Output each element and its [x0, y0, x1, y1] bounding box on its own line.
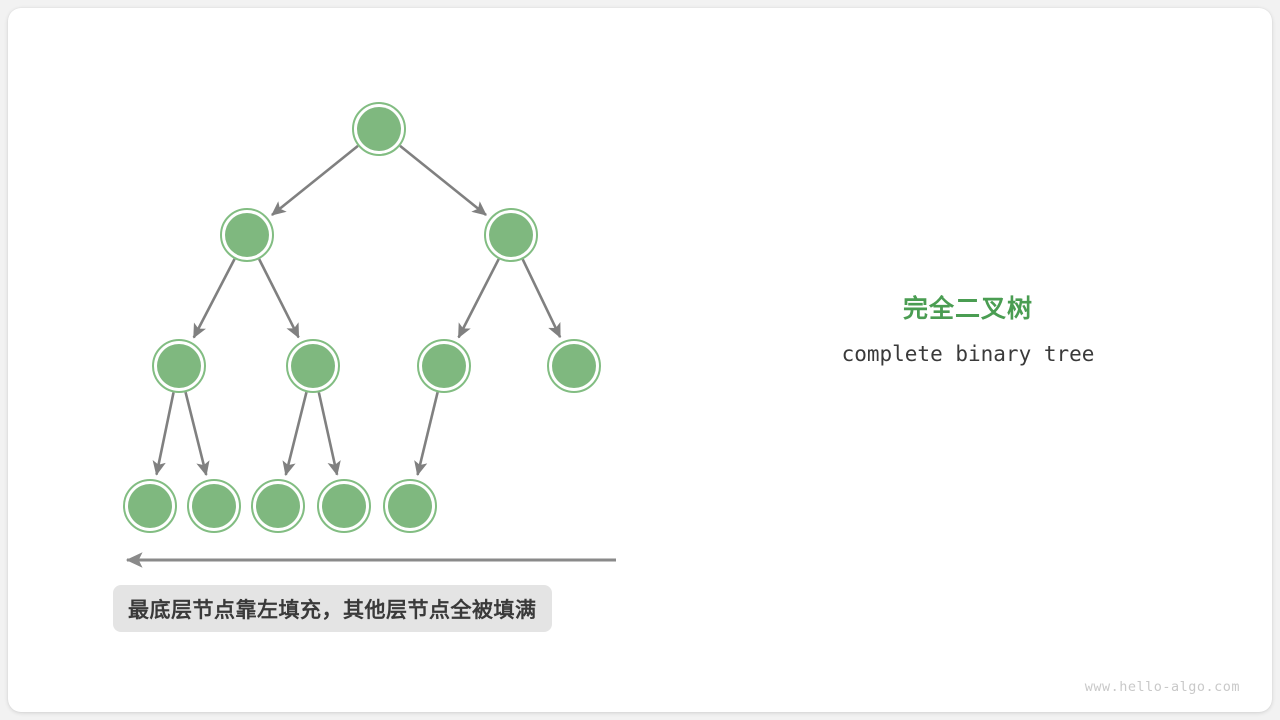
tree-edge	[272, 146, 358, 215]
tree-edge	[186, 392, 207, 475]
tree-node-body	[192, 484, 236, 528]
tree-node-body	[552, 344, 596, 388]
tree-node-body	[357, 107, 401, 151]
tree-node	[188, 480, 240, 532]
tree-node-body	[256, 484, 300, 528]
tree-edge	[523, 259, 560, 337]
tree-node	[548, 340, 600, 392]
tree-node-layer	[124, 103, 600, 532]
tree-node	[318, 480, 370, 532]
tree-edge	[319, 392, 337, 474]
tree-node	[418, 340, 470, 392]
tree-node-body	[322, 484, 366, 528]
tree-edge-layer	[156, 146, 560, 475]
tree-edge	[459, 259, 499, 337]
tree-node-body	[128, 484, 172, 528]
tree-node	[252, 480, 304, 532]
tree-edge	[418, 392, 438, 475]
tree-node	[124, 480, 176, 532]
figure-title-english: complete binary tree	[790, 339, 1146, 369]
tree-edge	[194, 259, 235, 338]
figure-title-chinese: 完全二叉树	[790, 292, 1146, 326]
tree-node	[485, 209, 537, 261]
tree-node	[153, 340, 205, 392]
tree-edge	[400, 146, 486, 215]
figure-caption: 最底层节点靠左填充，其他层节点全被填满	[113, 585, 552, 632]
tree-node-body	[489, 213, 533, 257]
tree-edge	[286, 392, 307, 475]
site-watermark: www.hello-algo.com	[1085, 679, 1240, 695]
figure-caption-text: 最底层节点靠左填充，其他层节点全被填满	[128, 594, 537, 624]
tree-edge	[259, 259, 298, 337]
tree-node-body	[157, 344, 201, 388]
figure-canvas: 完全二叉树 complete binary tree 最底层节点靠左填充，其他层…	[0, 0, 1280, 720]
tree-node	[384, 480, 436, 532]
tree-node-body	[422, 344, 466, 388]
tree-node	[287, 340, 339, 392]
tree-node-body	[225, 213, 269, 257]
tree-node-body	[291, 344, 335, 388]
tree-edge	[156, 392, 173, 474]
tree-node	[221, 209, 273, 261]
tree-node-body	[388, 484, 432, 528]
figure-title-block: 完全二叉树 complete binary tree	[790, 292, 1146, 369]
tree-node	[353, 103, 405, 155]
